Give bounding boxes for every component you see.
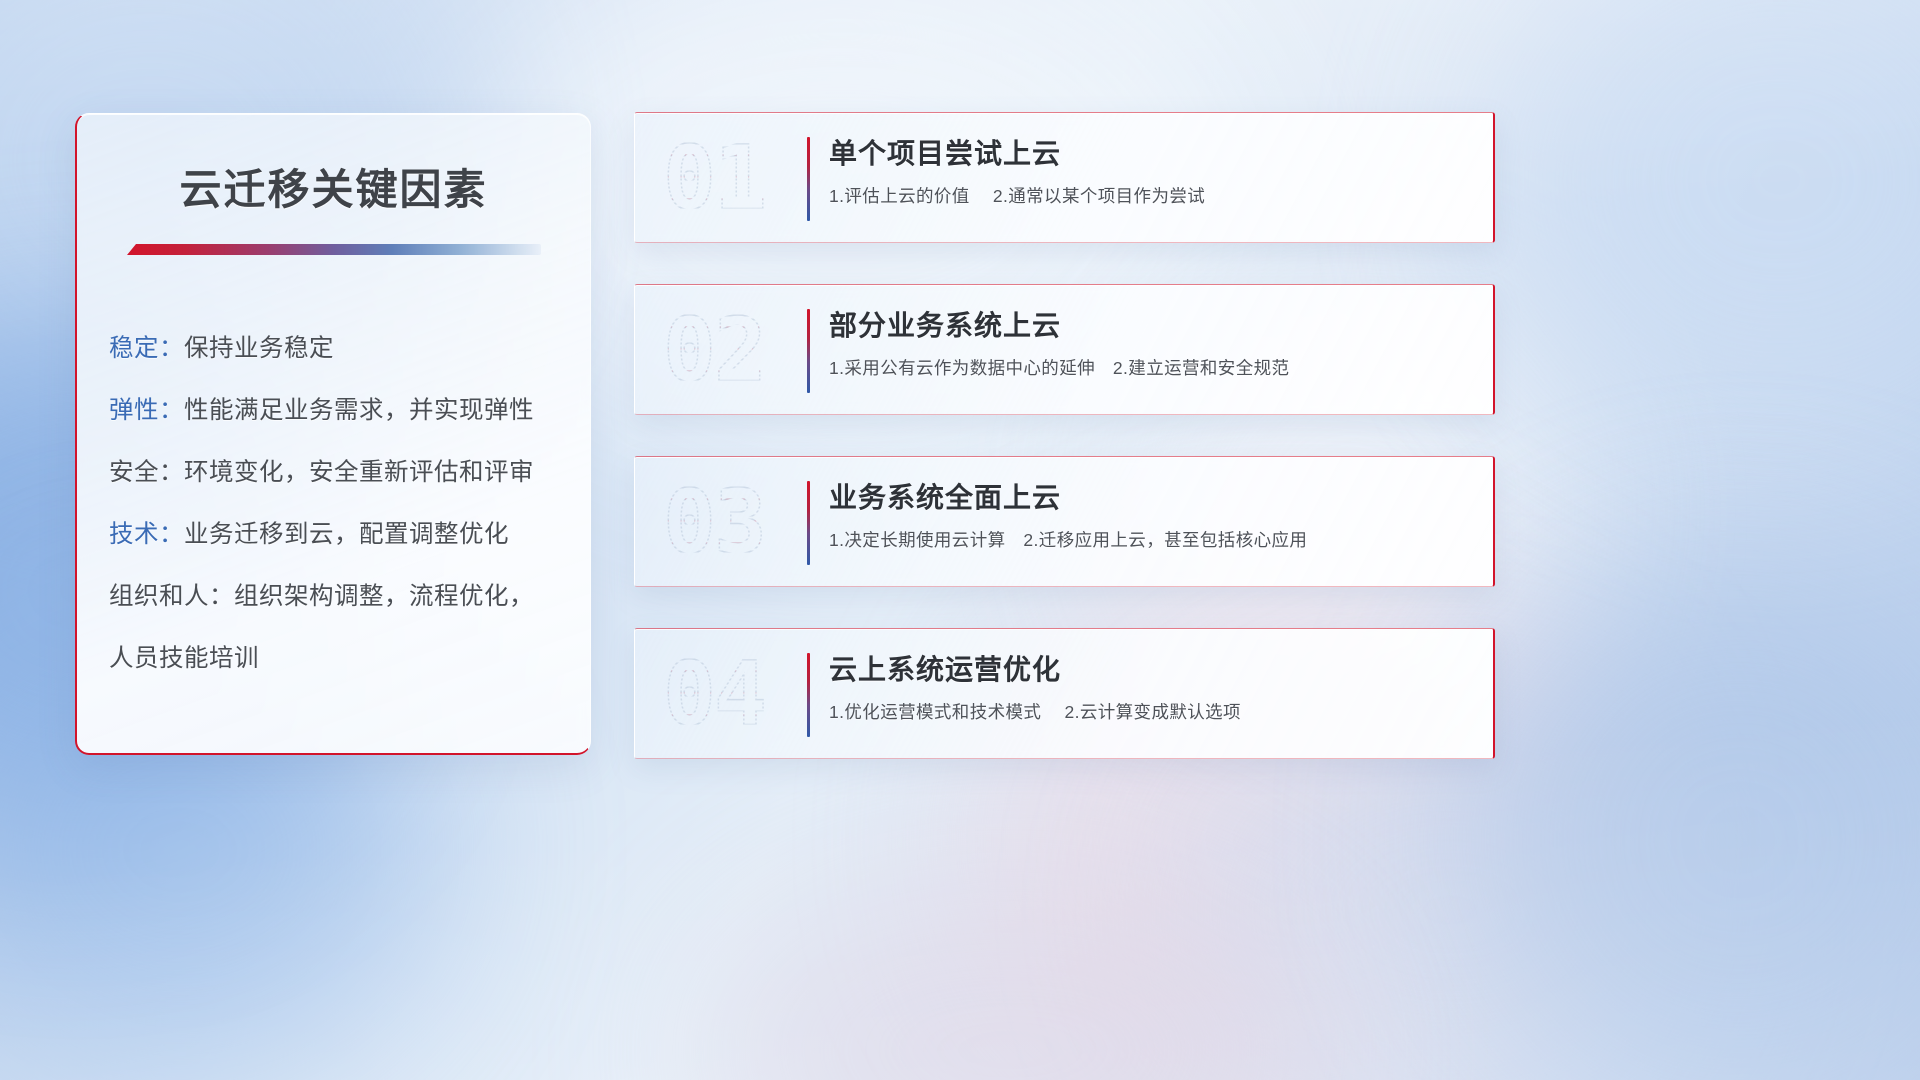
- step-card-body: 业务系统全面上云 1.决定长期使用云计算 2.迁移应用上云，甚至包括核心应用: [829, 477, 1469, 553]
- step-number-ghost-icon: 03: [663, 470, 765, 573]
- step-card-01[interactable]: 01 01 单个项目尝试上云 1.评估上云的价值 2.通常以某个项目作为尝试: [634, 112, 1495, 243]
- step-card-body: 单个项目尝试上云 1.评估上云的价值 2.通常以某个项目作为尝试: [829, 133, 1469, 209]
- step-card-body: 云上系统运营优化 1.优化运营模式和技术模式 2.云计算变成默认选项: [829, 649, 1469, 725]
- step-number-ghost-icon: 02: [663, 298, 765, 401]
- step-divider-bar: [807, 653, 810, 737]
- step-subtitle: 1.评估上云的价值 2.通常以某个项目作为尝试: [829, 183, 1469, 209]
- key-factor-text: 组织架构调整，流程优化，: [234, 583, 534, 610]
- step-subtitle: 1.优化运营模式和技术模式 2.云计算变成默认选项: [829, 699, 1469, 725]
- key-factor-row: 弹性：性能满足业务需求，并实现弹性: [109, 380, 566, 442]
- key-factor-row: 人员技能培训: [109, 628, 566, 690]
- key-factor-label: 技术：: [109, 521, 184, 548]
- key-factor-label: 组织和人：: [109, 583, 234, 610]
- page-title: 云迁移关键因素: [77, 156, 590, 217]
- slide-stage: 云迁移关键因素 稳定：保持业务稳定弹性：性能满足业务需求，并实现弹性安全：环境变…: [0, 0, 1920, 1080]
- key-factor-text: 性能满足业务需求，并实现弹性: [184, 397, 534, 424]
- title-underline-gradient-bar: [127, 244, 541, 255]
- step-divider-bar: [807, 137, 810, 221]
- step-card-body: 部分业务系统上云 1.采用公有云作为数据中心的延伸 2.建立运营和安全规范: [829, 305, 1469, 381]
- step-subtitle: 1.采用公有云作为数据中心的延伸 2.建立运营和安全规范: [829, 355, 1469, 381]
- key-factor-row: 稳定：保持业务稳定: [109, 318, 566, 380]
- step-card-02[interactable]: 02 02 部分业务系统上云 1.采用公有云作为数据中心的延伸 2.建立运营和安…: [634, 284, 1495, 415]
- step-card-04[interactable]: 04 04 云上系统运营优化 1.优化运营模式和技术模式 2.云计算变成默认选项: [634, 628, 1495, 759]
- step-number-ghost-accent-icon: 02: [663, 298, 765, 401]
- key-factors-list: 稳定：保持业务稳定弹性：性能满足业务需求，并实现弹性安全：环境变化，安全重新评估…: [109, 318, 566, 690]
- key-factors-panel: 云迁移关键因素 稳定：保持业务稳定弹性：性能满足业务需求，并实现弹性安全：环境变…: [75, 113, 591, 755]
- key-factor-label: 稳定：: [109, 335, 184, 362]
- key-factor-row: 组织和人：组织架构调整，流程优化，: [109, 566, 566, 628]
- step-subtitle: 1.决定长期使用云计算 2.迁移应用上云，甚至包括核心应用: [829, 527, 1469, 553]
- key-factor-row: 安全：环境变化，安全重新评估和评审: [109, 442, 566, 504]
- key-factor-text: 业务迁移到云，配置调整优化: [184, 521, 509, 548]
- key-factor-label: 安全：: [109, 459, 184, 486]
- step-divider-bar: [807, 481, 810, 565]
- key-factor-text: 人员技能培训: [109, 645, 259, 672]
- key-factor-text: 保持业务稳定: [184, 335, 334, 362]
- step-card-03[interactable]: 03 03 业务系统全面上云 1.决定长期使用云计算 2.迁移应用上云，甚至包括…: [634, 456, 1495, 587]
- step-number-ghost-accent-icon: 03: [663, 470, 765, 573]
- step-title: 云上系统运营优化: [829, 649, 1469, 691]
- step-title: 部分业务系统上云: [829, 305, 1469, 347]
- step-divider-bar: [807, 309, 810, 393]
- step-number-ghost-icon: 01: [663, 126, 765, 229]
- key-factor-text: 环境变化，安全重新评估和评审: [184, 459, 534, 486]
- step-number-ghost-accent-icon: 01: [663, 126, 765, 229]
- step-title: 业务系统全面上云: [829, 477, 1469, 519]
- step-number-ghost-icon: 04: [663, 642, 765, 745]
- key-factor-label: 弹性：: [109, 397, 184, 424]
- step-number-ghost-accent-icon: 04: [663, 642, 765, 745]
- step-title: 单个项目尝试上云: [829, 133, 1469, 175]
- key-factor-row: 技术：业务迁移到云，配置调整优化: [109, 504, 566, 566]
